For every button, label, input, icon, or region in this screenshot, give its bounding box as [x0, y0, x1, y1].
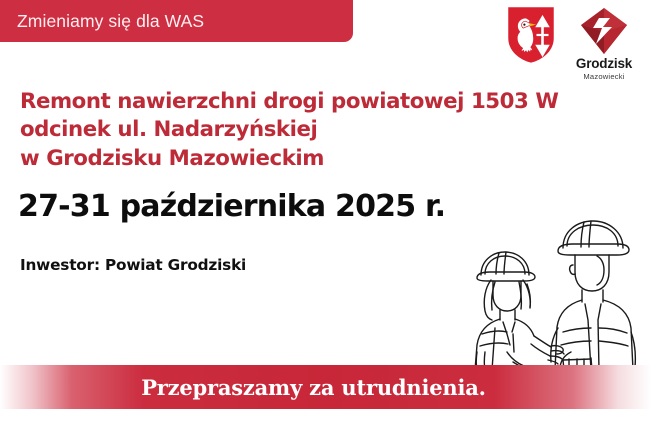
top-ribbon: Zmieniamy się dla WAS — [0, 0, 353, 42]
top-ribbon-label: Zmieniamy się dla WAS — [0, 11, 204, 32]
apology-banner: Przepraszamy za utrudnienia. — [0, 365, 651, 409]
coat-of-arms-icon — [505, 4, 557, 66]
grodzisk-subtitle: Mazowiecki — [565, 73, 643, 81]
headline-line-3: w Grodzisku Mazowieckim — [20, 145, 580, 173]
investor-label: Inwestor: Powiat Grodziski — [20, 256, 246, 274]
grodzisk-logo: Grodzisk Mazowiecki — [565, 4, 643, 80]
grodzisk-diamond-icon — [565, 6, 643, 56]
works-date-range: 27-31 października 2025 r. — [18, 190, 445, 223]
grodzisk-wordmark: Grodzisk — [565, 57, 643, 71]
logo-group: Grodzisk Mazowiecki — [505, 4, 643, 80]
headline-line-2: odcinek ul. Nadarzyńskiej — [20, 116, 580, 144]
page-title: Remont nawierzchni drogi powiatowej 1503… — [20, 88, 580, 173]
headline-line-1: Remont nawierzchni drogi powiatowej 1503… — [20, 88, 580, 116]
road-works-announcement-poster: Zmieniamy się dla WAS — [0, 0, 651, 430]
apology-banner-label: Przepraszamy za utrudnienia. — [141, 375, 486, 400]
